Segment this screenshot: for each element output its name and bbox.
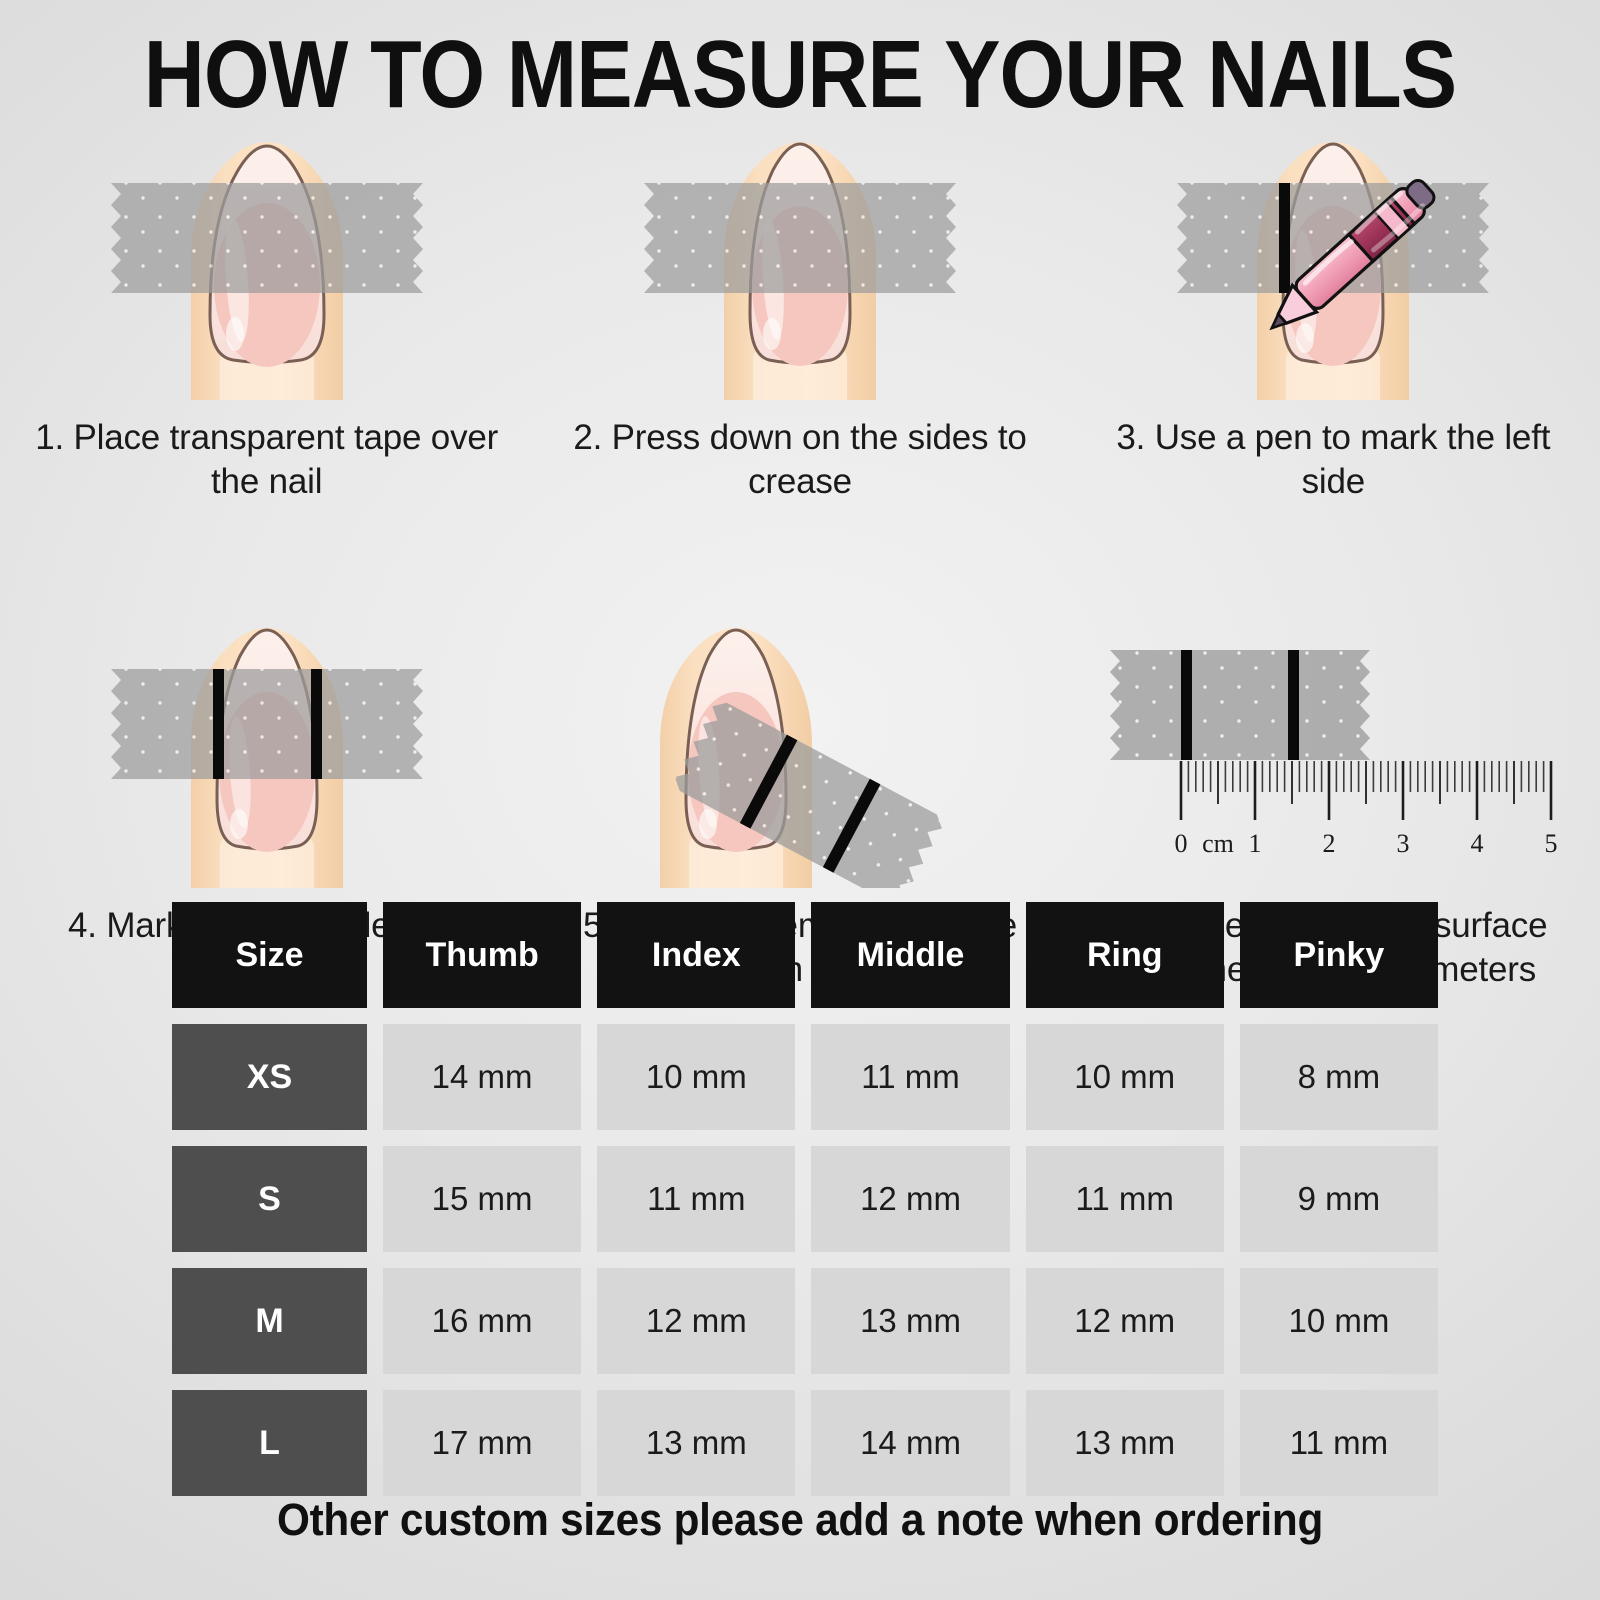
cell-xs-middle: 11 mm (811, 1024, 1009, 1130)
tape (644, 183, 956, 293)
cell-xs-pinky: 8 mm (1240, 1024, 1438, 1130)
header-cell-ring: Ring (1026, 902, 1224, 1008)
cell-l-ring: 13 mm (1026, 1390, 1224, 1496)
ruler-ticks (1181, 761, 1551, 820)
ruler-label-0: 0 (1175, 829, 1188, 858)
header-cell-size: Size (172, 902, 367, 1008)
size-chart-table: Size Thumb Index Middle Ring Pinky XS 14… (172, 902, 1438, 1496)
ruler-labels: 0 cm 1 2 3 4 5 (1175, 829, 1558, 858)
step-4-illustration (0, 596, 533, 888)
tape (1110, 650, 1370, 760)
header-cell-pinky: Pinky (1240, 902, 1438, 1008)
finger-tape-peeled (590, 596, 1010, 888)
table-header-row: Size Thumb Index Middle Ring Pinky (172, 902, 1438, 1008)
tape-mark-right (1288, 650, 1299, 760)
left-mark (1279, 183, 1290, 293)
step-1: 1. Place transparent tape over the nail (0, 110, 533, 504)
ruler-label-5: 5 (1545, 829, 1558, 858)
step-3: 3. Use a pen to mark the left side (1067, 110, 1600, 504)
finger-with-creased-tape (620, 110, 980, 400)
tape-with-ruler: 0 cm 1 2 3 4 5 (1098, 614, 1568, 864)
infographic-page: HOW TO MEASURE YOUR NAILS (0, 0, 1600, 1600)
size-label-xs: XS (172, 1024, 367, 1130)
tape-mark-left (1181, 650, 1192, 760)
cell-s-ring: 11 mm (1026, 1146, 1224, 1252)
table-row: S 15 mm 11 mm 12 mm 11 mm 9 mm (172, 1146, 1438, 1252)
right-mark (311, 669, 322, 779)
cell-l-pinky: 11 mm (1240, 1390, 1438, 1496)
left-mark (213, 669, 224, 779)
tape (111, 183, 423, 293)
step-2-illustration (533, 110, 1066, 400)
table-row: L 17 mm 13 mm 14 mm 13 mm 11 mm (172, 1390, 1438, 1496)
table-row: XS 14 mm 10 mm 11 mm 10 mm 8 mm (172, 1024, 1438, 1130)
tape (111, 669, 423, 779)
cell-m-thumb: 16 mm (383, 1268, 581, 1374)
size-label-l: L (172, 1390, 367, 1496)
cell-xs-thumb: 14 mm (383, 1024, 581, 1130)
step-2-caption: 2. Press down on the sides to crease (533, 416, 1066, 504)
cell-l-middle: 14 mm (811, 1390, 1009, 1496)
step-1-illustration (0, 110, 533, 400)
ruler-label-3: 3 (1397, 829, 1410, 858)
steps-row-1: 1. Place transparent tape over the nail (0, 110, 1600, 504)
steps-section: 1. Place transparent tape over the nail (0, 110, 1600, 992)
ruler-unit-label: cm (1202, 829, 1234, 858)
size-label-m: M (172, 1268, 367, 1374)
footer-note: Other custom sizes please add a note whe… (48, 1494, 1552, 1546)
cell-s-index: 11 mm (597, 1146, 795, 1252)
step-2: 2. Press down on the sides to crease (533, 110, 1066, 504)
ruler-label-4: 4 (1471, 829, 1484, 858)
step-6-illustration: 0 cm 1 2 3 4 5 (1067, 596, 1600, 888)
table-row: M 16 mm 12 mm 13 mm 12 mm 10 mm (172, 1268, 1438, 1374)
ruler-label-2: 2 (1323, 829, 1336, 858)
cell-s-thumb: 15 mm (383, 1146, 581, 1252)
cell-m-index: 12 mm (597, 1268, 795, 1374)
cell-m-ring: 12 mm (1026, 1268, 1224, 1374)
cell-m-middle: 13 mm (811, 1268, 1009, 1374)
header-cell-index: Index (597, 902, 795, 1008)
step-3-caption: 3. Use a pen to mark the left side (1067, 416, 1600, 504)
header-cell-thumb: Thumb (383, 902, 581, 1008)
cell-l-thumb: 17 mm (383, 1390, 581, 1496)
cell-m-pinky: 10 mm (1240, 1268, 1438, 1374)
finger-tape-pen (1153, 110, 1513, 400)
cell-l-index: 13 mm (597, 1390, 795, 1496)
cell-xs-ring: 10 mm (1026, 1024, 1224, 1130)
header-cell-middle: Middle (811, 902, 1009, 1008)
cell-s-middle: 12 mm (811, 1146, 1009, 1252)
step-5-illustration (533, 596, 1066, 888)
ruler-label-1: 1 (1249, 829, 1262, 858)
cell-xs-index: 10 mm (597, 1024, 795, 1130)
cell-s-pinky: 9 mm (1240, 1146, 1438, 1252)
step-1-caption: 1. Place transparent tape over the nail (0, 416, 533, 504)
finger-with-plain-tape (87, 110, 447, 400)
size-label-s: S (172, 1146, 367, 1252)
finger-tape-two-marks (87, 596, 447, 888)
step-3-illustration (1067, 110, 1600, 400)
